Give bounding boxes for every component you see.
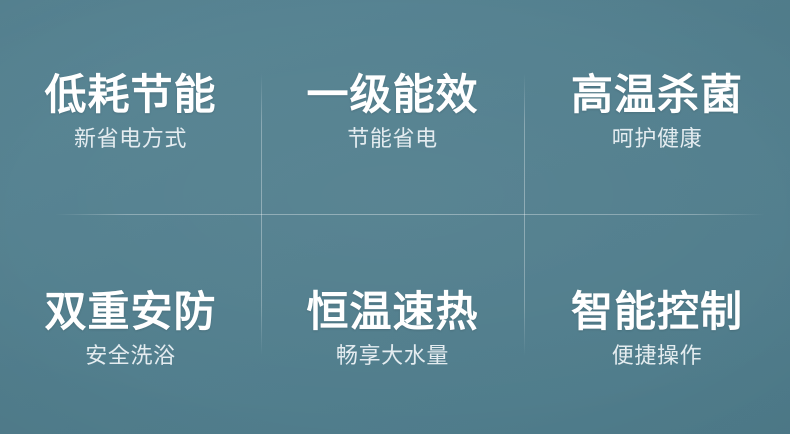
feature-subtitle: 安全洗浴 xyxy=(85,343,175,368)
feature-cell-1: 低耗节能 新省电方式 xyxy=(0,0,261,217)
feature-subtitle: 畅享大水量 xyxy=(336,343,449,368)
feature-title: 一级能效 xyxy=(306,72,478,117)
feature-title: 智能控制 xyxy=(571,289,743,334)
feature-cell-4: 双重安防 安全洗浴 xyxy=(0,217,261,434)
feature-title: 双重安防 xyxy=(44,289,216,334)
feature-cell-3: 高温杀菌 呵护健康 xyxy=(524,0,790,217)
feature-highlight-panel: 低耗节能 新省电方式 一级能效 节能省电 高温杀菌 呵护健康 双重安防 安全洗浴… xyxy=(0,0,790,434)
feature-title: 恒温速热 xyxy=(306,289,478,334)
feature-subtitle: 节能省电 xyxy=(347,126,437,151)
feature-title: 低耗节能 xyxy=(44,72,216,117)
feature-subtitle: 便捷操作 xyxy=(612,343,702,368)
feature-subtitle: 呵护健康 xyxy=(612,126,702,151)
feature-cell-6: 智能控制 便捷操作 xyxy=(524,217,790,434)
feature-cell-2: 一级能效 节能省电 xyxy=(261,0,524,217)
feature-title: 高温杀菌 xyxy=(571,72,743,117)
feature-subtitle: 新省电方式 xyxy=(74,126,187,151)
feature-grid: 低耗节能 新省电方式 一级能效 节能省电 高温杀菌 呵护健康 双重安防 安全洗浴… xyxy=(0,0,790,434)
feature-cell-5: 恒温速热 畅享大水量 xyxy=(261,217,524,434)
